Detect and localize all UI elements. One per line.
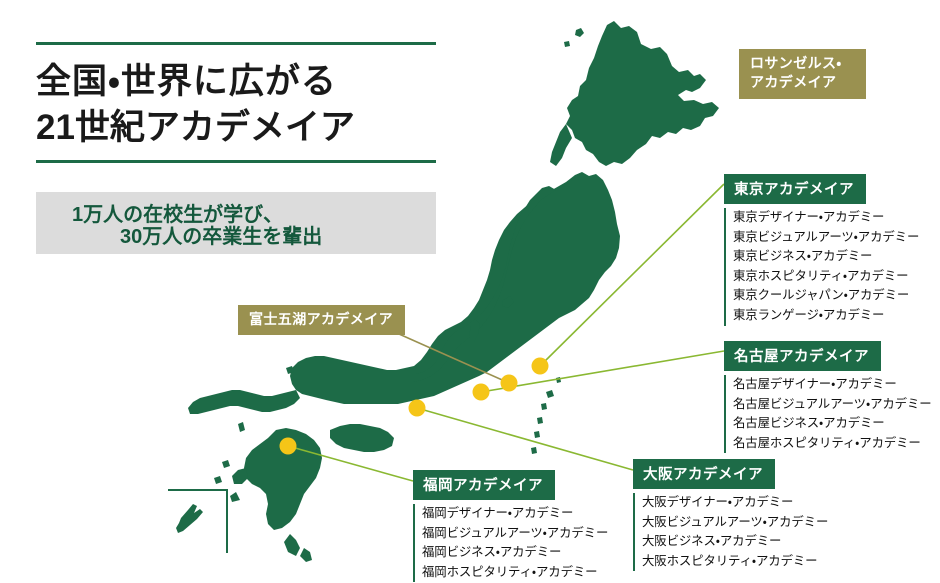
page-title-line-1: 全国・世界に広がる <box>36 59 436 105</box>
fukuoka-academy-list: 福岡デザイナー・アカデミー 福岡ビジュアルアーツ・アカデミー 福岡ビジネス・アカ… <box>413 504 608 582</box>
infographic-canvas: 全国・世界に広がる 21世紀アカデメイア 1万人の在校生が学び、 30万人の卒業… <box>0 0 940 583</box>
title-rule-bottom <box>36 160 436 163</box>
list-item: 東京ランゲージ・アカデミー <box>733 306 919 326</box>
list-item: 名古屋ビジュアルアーツ・アカデミー <box>733 395 932 415</box>
los-angeles-label-line-1: ロサンゼルス・ <box>750 54 854 73</box>
location-box-tokyo[interactable]: 東京アカデメイア 東京デザイナー・アカデミー 東京ビジュアルアーツ・アカデミー … <box>724 174 919 326</box>
tokyo-header: 東京アカデメイア <box>724 174 866 204</box>
list-item: 東京ビジュアルアーツ・アカデミー <box>733 228 919 248</box>
city-dot-fukuoka <box>280 438 297 455</box>
fukuoka-header: 福岡アカデメイア <box>413 470 555 500</box>
city-dot-nagoya <box>473 384 490 401</box>
city-dot-fuji <box>501 375 518 392</box>
city-dot-tokyo <box>532 358 549 375</box>
city-dot-osaka <box>409 400 426 417</box>
location-box-fukuoka[interactable]: 福岡アカデメイア 福岡デザイナー・アカデミー 福岡ビジュアルアーツ・アカデミー … <box>413 470 608 582</box>
list-item: 名古屋デザイナー・アカデミー <box>733 375 932 395</box>
nagoya-academy-list: 名古屋デザイナー・アカデミー 名古屋ビジュアルアーツ・アカデミー 名古屋ビジネス… <box>724 375 932 453</box>
title-block: 全国・世界に広がる 21世紀アカデメイア <box>36 42 436 163</box>
los-angeles-label-line-2: アカデメイア <box>750 73 854 92</box>
list-item: 名古屋ホスピタリティ・アカデミー <box>733 434 932 454</box>
list-item: 東京デザイナー・アカデミー <box>733 208 919 228</box>
fuji-header-label: 富士五湖アカデメイア <box>249 311 393 327</box>
list-item: 大阪ホスピタリティ・アカデミー <box>642 552 828 572</box>
list-item: 福岡ホスピタリティ・アカデミー <box>422 563 608 583</box>
nagoya-header: 名古屋アカデメイア <box>724 341 881 371</box>
list-item: 東京クールジャパン・アカデミー <box>733 286 919 306</box>
connector-line-nagoya <box>481 351 724 392</box>
list-item: 福岡ビジュアルアーツ・アカデミー <box>422 524 608 544</box>
list-item: 名古屋ビジネス・アカデミー <box>733 414 932 434</box>
page-title-line-2: 21世紀アカデメイア <box>36 105 436 151</box>
list-item: 大阪ビジュアルアーツ・アカデミー <box>642 513 828 533</box>
list-item: 福岡ビジネス・アカデミー <box>422 543 608 563</box>
list-item: 大阪デザイナー・アカデミー <box>642 493 828 513</box>
okinawa-inset-bracket <box>168 489 228 553</box>
title-rule-top <box>36 42 436 45</box>
list-item: 福岡デザイナー・アカデミー <box>422 504 608 524</box>
list-item: 東京ビジネス・アカデミー <box>733 247 919 267</box>
location-box-los-angeles[interactable]: ロサンゼルス・ アカデメイア <box>739 49 866 99</box>
subtitle-line-2: 30万人の卒業生を輩出 <box>120 223 322 252</box>
subtitle-band: 1万人の在校生が学び、 30万人の卒業生を輩出 <box>36 192 436 254</box>
osaka-academy-list: 大阪デザイナー・アカデミー 大阪ビジュアルアーツ・アカデミー 大阪ビジネス・アカ… <box>633 493 828 571</box>
connector-line-osaka <box>417 408 633 470</box>
location-box-osaka[interactable]: 大阪アカデメイア 大阪デザイナー・アカデミー 大阪ビジュアルアーツ・アカデミー … <box>633 459 828 571</box>
osaka-header: 大阪アカデメイア <box>633 459 775 489</box>
tokyo-academy-list: 東京デザイナー・アカデミー 東京ビジュアルアーツ・アカデミー 東京ビジネス・アカ… <box>724 208 919 326</box>
location-box-fuji[interactable]: 富士五湖アカデメイア <box>238 305 405 335</box>
list-item: 大阪ビジネス・アカデミー <box>642 532 828 552</box>
list-item: 東京ホスピタリティ・アカデミー <box>733 267 919 287</box>
location-box-nagoya[interactable]: 名古屋アカデメイア 名古屋デザイナー・アカデミー 名古屋ビジュアルアーツ・アカデ… <box>724 341 932 453</box>
